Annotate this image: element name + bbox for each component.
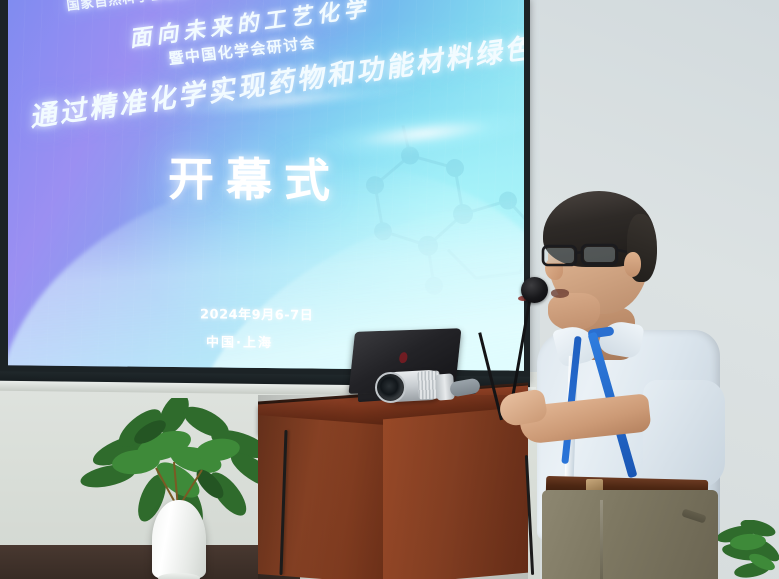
plant-vase-left bbox=[152, 500, 206, 579]
projection-screen-surface: 国家自然科学基金委 面向未来的工艺化学 暨中国化学会研讨会 通过精准化学实现药物… bbox=[8, 0, 524, 371]
laptop-logo-icon bbox=[399, 352, 408, 363]
speaker-jaw bbox=[548, 293, 600, 331]
podium-left-panel bbox=[258, 415, 386, 579]
speaker-trouser-crease bbox=[600, 500, 603, 579]
wall-baseboard bbox=[0, 545, 300, 579]
document-camera-lens-icon bbox=[375, 372, 406, 403]
speaker-shirt-sleeve bbox=[643, 380, 725, 488]
microphone-head-icon[interactable] bbox=[521, 277, 548, 303]
speaker-trousers bbox=[542, 490, 718, 579]
speaker-mouth bbox=[551, 289, 569, 298]
eyeglasses-icon bbox=[541, 240, 627, 270]
screenshot-root: 国家自然科学基金委 面向未来的工艺化学 暨中国化学会研讨会 通过精准化学实现药物… bbox=[0, 0, 779, 579]
projection-screen-frame: 国家自然科学基金委 面向未来的工艺化学 暨中国化学会研讨会 通过精准化学实现药物… bbox=[0, 0, 530, 383]
potted-plant-foliage-right bbox=[718, 520, 779, 579]
podium-front-panel bbox=[383, 407, 528, 579]
